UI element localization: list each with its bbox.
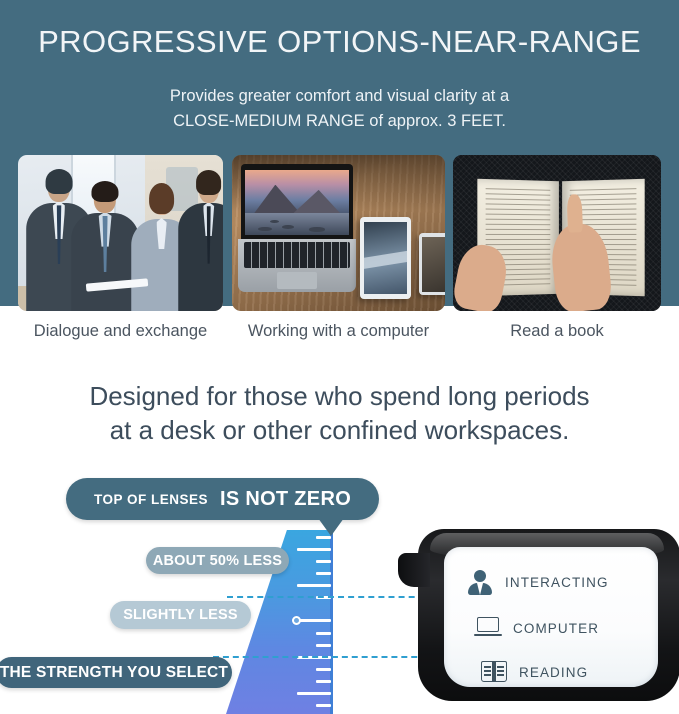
laptop-tablet-phone-on-desk-photo bbox=[232, 155, 445, 311]
lens-zone-computer: COMPUTER bbox=[474, 615, 599, 641]
photo-captions: Dialogue and exchange Working with a com… bbox=[0, 322, 679, 356]
photo-computer bbox=[232, 155, 445, 311]
photo-dialogue bbox=[18, 155, 223, 311]
business-people-talking-photo bbox=[18, 155, 223, 311]
page-title: PROGRESSIVE OPTIONS-NEAR-RANGE bbox=[0, 24, 679, 60]
laptop-device bbox=[238, 164, 355, 292]
laptop-icon bbox=[474, 615, 502, 641]
book-icon bbox=[480, 659, 508, 685]
caption-dialogue: Dialogue and exchange bbox=[18, 322, 223, 341]
photo-reading bbox=[453, 155, 661, 311]
lens-zone-interacting: INTERACTING bbox=[466, 569, 609, 595]
badge-top-of-lenses[interactable]: TOP OF LENSES IS NOT ZERO bbox=[66, 478, 379, 520]
glasses-temple-arm bbox=[398, 553, 430, 587]
page-subtitle: Provides greater comfort and visual clar… bbox=[0, 84, 679, 134]
ruler-ticks bbox=[282, 530, 331, 714]
badge-slightly-less[interactable]: SLIGHTLY LESS bbox=[110, 601, 251, 629]
glasses-lens: INTERACTING COMPUTER READING bbox=[444, 547, 658, 687]
ruler-knob[interactable] bbox=[292, 616, 301, 625]
tagline: Designed for those who spend long period… bbox=[0, 379, 679, 447]
badge-label: SLIGHTLY LESS bbox=[123, 607, 238, 623]
lens-zone-label: COMPUTER bbox=[513, 621, 599, 636]
pointing-finger bbox=[567, 194, 583, 233]
tagline-line-2: at a desk or other confined workspaces. bbox=[0, 413, 679, 447]
tagline-line-1: Designed for those who spend long period… bbox=[0, 379, 679, 413]
lens-zone-label: INTERACTING bbox=[505, 575, 609, 590]
hands-holding-open-book-photo bbox=[453, 155, 661, 311]
ruler-knob-row bbox=[297, 619, 331, 622]
person-figure bbox=[71, 177, 139, 311]
badge-about-50-less[interactable]: ABOUT 50% LESS bbox=[146, 547, 289, 574]
caption-computer: Working with a computer bbox=[232, 322, 445, 341]
badge-top-big-label: IS NOT ZERO bbox=[220, 488, 351, 511]
person-icon bbox=[466, 569, 494, 595]
subtitle-line-2: CLOSE-MEDIUM RANGE of approx. 3 FEET. bbox=[0, 109, 679, 134]
photo-strip bbox=[0, 155, 679, 311]
badge-strength-you-select[interactable]: THE STRENGTH YOU SELECT bbox=[0, 657, 232, 688]
phone-device bbox=[419, 233, 445, 295]
badge-top-small-label: TOP OF LENSES bbox=[94, 492, 208, 507]
badge-pointer-tail bbox=[318, 518, 344, 536]
eyeglasses-graphic: INTERACTING COMPUTER READING bbox=[398, 529, 679, 714]
tablet-device bbox=[360, 217, 411, 298]
lens-zone-label: READING bbox=[519, 665, 588, 680]
badge-label: ABOUT 50% LESS bbox=[153, 553, 282, 569]
badge-label: THE STRENGTH YOU SELECT bbox=[0, 664, 228, 682]
caption-reading: Read a book bbox=[453, 322, 661, 341]
subtitle-line-1: Provides greater comfort and visual clar… bbox=[0, 84, 679, 109]
lens-zone-reading: READING bbox=[480, 659, 588, 685]
person-figure bbox=[178, 167, 223, 311]
infographic-page: PROGRESSIVE OPTIONS-NEAR-RANGE Provides … bbox=[0, 0, 679, 714]
